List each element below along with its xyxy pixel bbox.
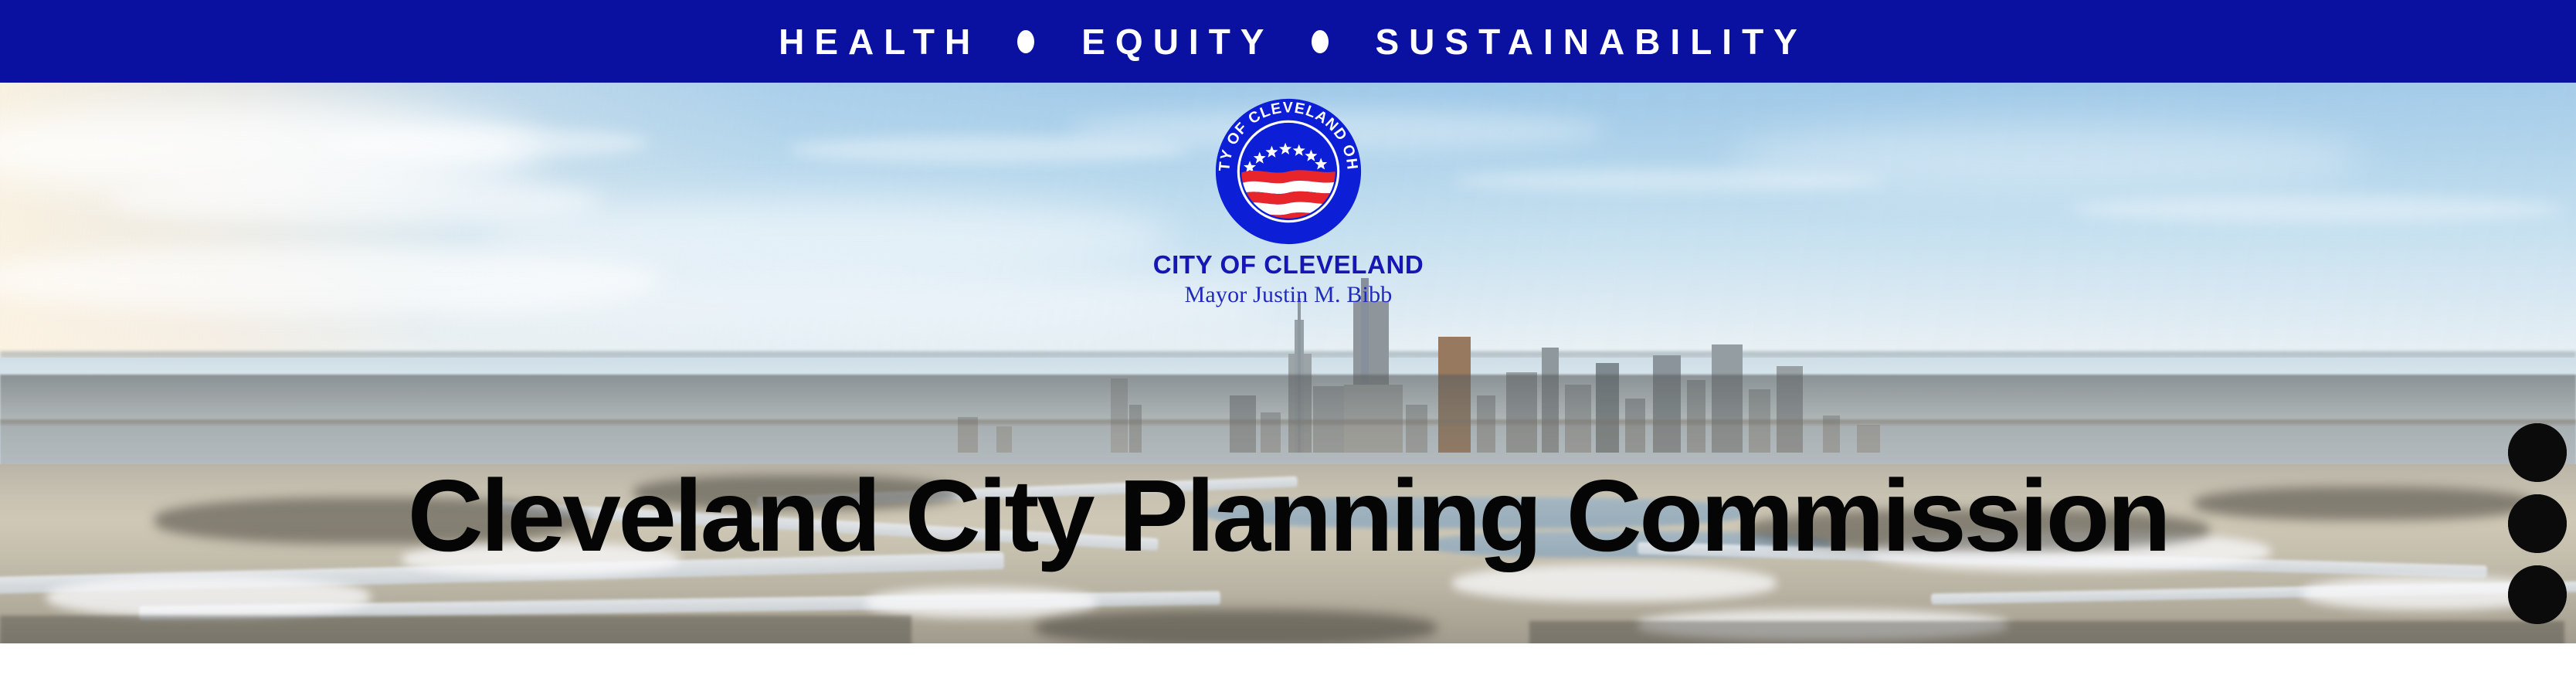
tagline-word-health: HEALTH <box>769 24 980 59</box>
tagline-separator-dot-2 <box>1312 30 1329 53</box>
mayor-name-label: Mayor Justin M. Bibb <box>1184 283 1392 307</box>
tagline-separator-dot-1 <box>1017 30 1034 53</box>
page-title: Cleveland City Planning Commission <box>0 465 2576 567</box>
facebook-icon <box>2508 565 2567 624</box>
tagline-banner: HEALTH EQUITY SUSTAINABILITY <box>0 0 2576 83</box>
facebook-link[interactable] <box>2508 565 2567 624</box>
page-root: HEALTH EQUITY SUSTAINABILITY <box>0 0 2576 682</box>
instagram-icon <box>2508 494 2567 553</box>
hero-photo: CITY OF CLEVELAND OHIO <box>0 83 2576 643</box>
youtube-link[interactable] <box>2508 423 2567 482</box>
city-name-label: CITY OF CLEVELAND <box>1153 252 1424 279</box>
instagram-link[interactable] <box>2508 494 2567 553</box>
city-identity-block: CITY OF CLEVELAND OHIO <box>1157 96 1420 307</box>
social-links-rail <box>2508 423 2567 624</box>
tagline-word-equity: EQUITY <box>1071 24 1274 59</box>
bottom-white-strip <box>0 643 2576 682</box>
tagline-group: HEALTH EQUITY SUSTAINABILITY <box>769 24 1807 59</box>
tagline-word-sustainability: SUSTAINABILITY <box>1366 24 1807 59</box>
youtube-icon <box>2508 423 2567 482</box>
tree-band-far <box>0 375 2576 425</box>
city-of-cleveland-seal: CITY OF CLEVELAND OHIO <box>1213 96 1364 247</box>
